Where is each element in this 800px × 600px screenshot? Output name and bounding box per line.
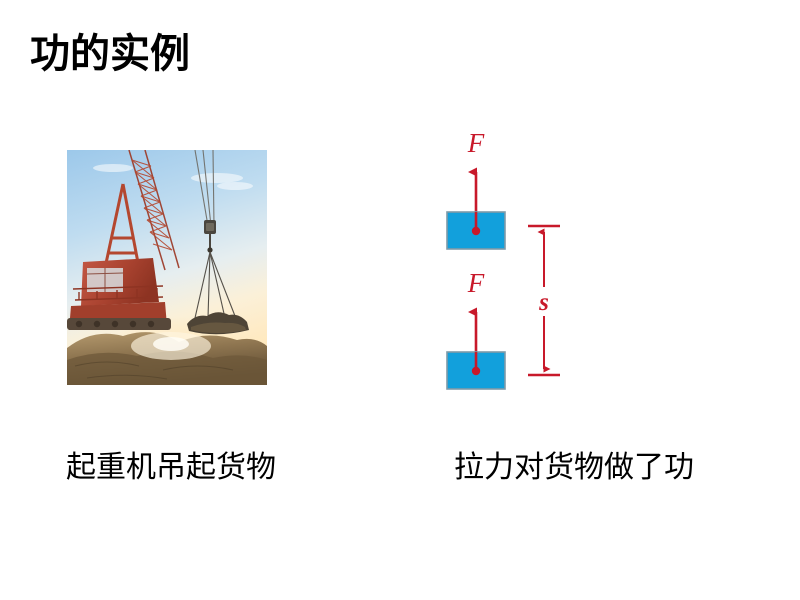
distance-dimension-s: s — [528, 226, 560, 375]
force-label-bottom: F — [467, 268, 485, 298]
crane-photo-container — [67, 150, 267, 385]
caption-right: 拉力对货物做了功 — [404, 449, 744, 487]
caption-left: 起重机吊起货物 — [41, 449, 301, 487]
application-point-top — [472, 227, 480, 235]
force-work-diagram-svg: F F s — [420, 120, 610, 400]
distance-label: s — [538, 289, 549, 316]
crane-lifting-cargo-photo — [67, 150, 267, 385]
page-title: 功的实例 — [30, 28, 190, 80]
force-label-top: F — [467, 128, 485, 158]
application-point-bottom — [472, 367, 480, 375]
force-work-diagram: F F s — [420, 120, 610, 400]
